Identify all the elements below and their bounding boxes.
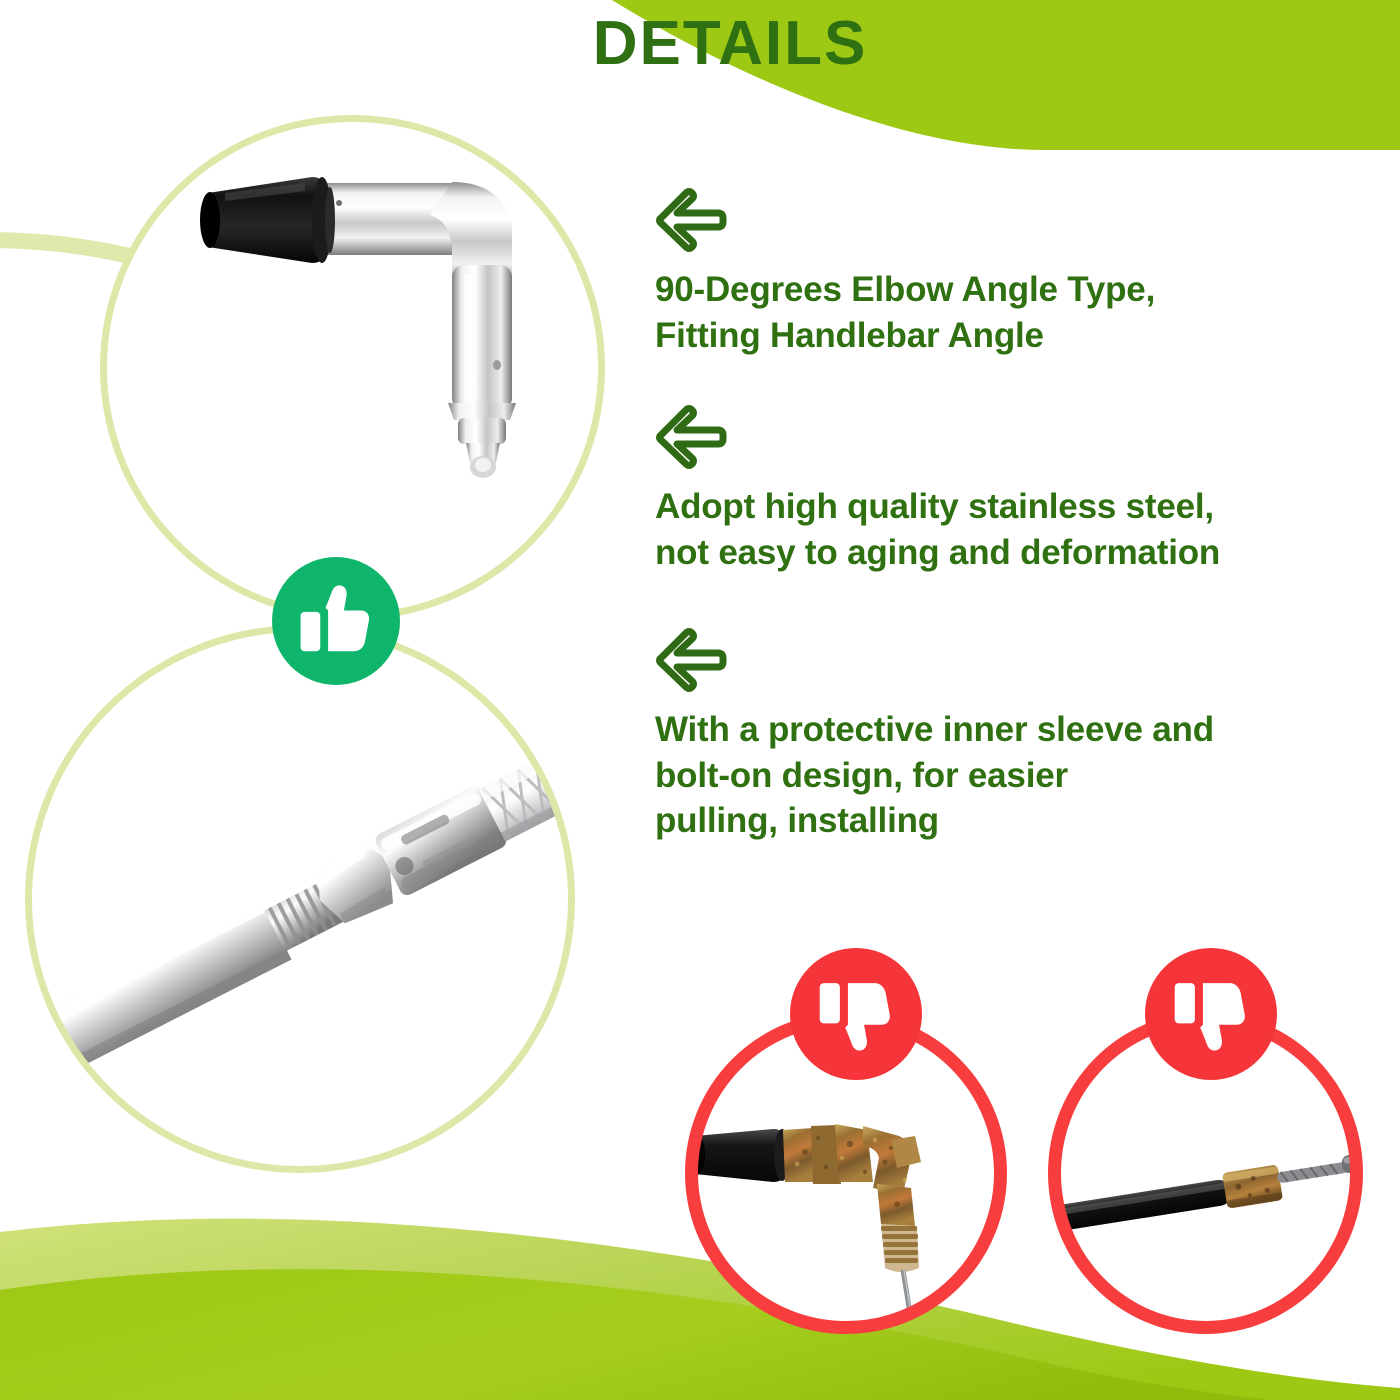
thumbs-up-badge bbox=[272, 557, 400, 685]
page-title-text: DETAILS bbox=[593, 13, 868, 75]
arrow-left-icon bbox=[655, 185, 729, 255]
thumbs-up-icon bbox=[294, 579, 378, 663]
feature-bullet-3: With a protective inner sleeve and bolt-… bbox=[655, 625, 1365, 844]
feature-bullet-1: 90-Degrees Elbow Angle Type, Fitting Han… bbox=[655, 185, 1365, 358]
feature-bullet-2-text: Adopt high quality stainless steel, not … bbox=[655, 484, 1365, 575]
infographic-stage: DETAILS bbox=[0, 0, 1400, 1400]
thumbs-down-badge-2 bbox=[1145, 948, 1277, 1080]
feature-bullet-2: Adopt high quality stainless steel, not … bbox=[655, 402, 1365, 575]
feature-bullet-list: 90-Degrees Elbow Angle Type, Fitting Han… bbox=[655, 185, 1365, 874]
arrow-left-icon bbox=[655, 402, 729, 472]
feature-bullet-3-text: With a protective inner sleeve and bolt-… bbox=[655, 707, 1365, 844]
thumbs-down-icon bbox=[813, 971, 899, 1057]
feature-bullet-1-text: 90-Degrees Elbow Angle Type, Fitting Han… bbox=[655, 267, 1365, 358]
good-example-bolt-on-circle bbox=[25, 625, 575, 1173]
pale-green-ring bbox=[100, 115, 605, 620]
good-example-elbow-circle bbox=[100, 115, 605, 620]
thumbs-down-icon bbox=[1168, 971, 1254, 1057]
arrow-left-icon bbox=[655, 625, 729, 695]
pale-green-ring bbox=[25, 625, 575, 1173]
thumbs-down-badge-1 bbox=[790, 948, 922, 1080]
page-title: DETAILS bbox=[520, 8, 940, 80]
